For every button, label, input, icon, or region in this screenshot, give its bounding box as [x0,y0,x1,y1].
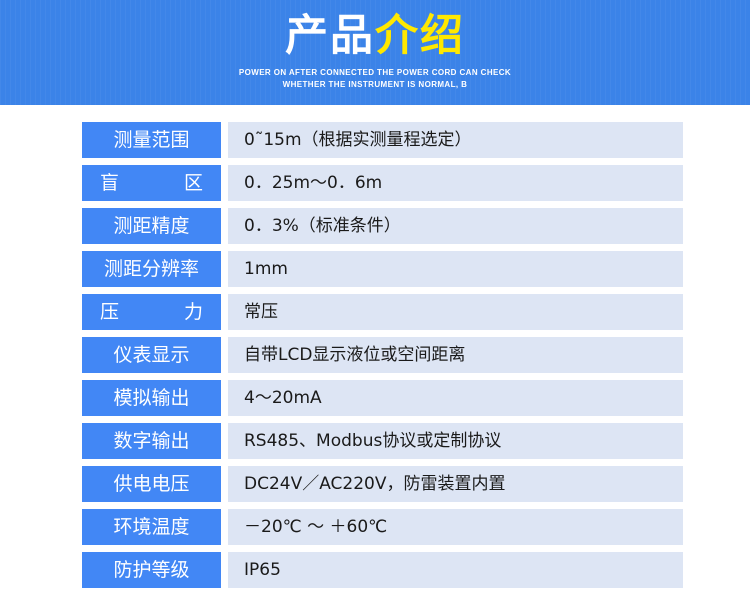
spec-value-cell: 1mm [228,251,683,287]
cell-divider [221,165,228,201]
cell-divider [221,337,228,373]
spec-label-cell: 压力 [82,294,221,330]
page-subtitle: POWER ON AFTER CONNECTED THE POWER CORD … [0,61,750,91]
spec-value-cell: 0．3%（标准条件） [228,208,683,244]
spec-value-cell: 4～20mA [228,380,683,416]
spec-label-cell: 模拟输出 [82,380,221,416]
page-title-part-2: 介绍 [375,11,465,61]
table-row: 压力常压 [0,294,750,330]
spec-label-cell: 仪表显示 [82,337,221,373]
cell-divider [221,552,228,588]
spec-value-cell: 0˜15m（根据实测量程选定） [228,122,683,158]
cell-divider [221,251,228,287]
spec-value-cell: DC24V／AC220V，防雷装置内置 [228,466,683,502]
table-row: 测量范围0˜15m（根据实测量程选定） [0,122,750,158]
spec-value-cell: IP65 [228,552,683,588]
table-row: 数字输出RS485、Modbus协议或定制协议 [0,423,750,459]
page-subtitle-line-1: POWER ON AFTER CONNECTED THE POWER CORD … [0,67,750,79]
cell-divider [221,208,228,244]
spec-value-cell: RS485、Modbus协议或定制协议 [228,423,683,459]
spec-value-cell: 自带LCD显示液位或空间距离 [228,337,683,373]
spec-label-cell: 盲区 [82,165,221,201]
spec-value-cell: 0．25m～0．6m [228,165,683,201]
table-row: 盲区0．25m～0．6m [0,165,750,201]
banner-content: 产品介绍 POWER ON AFTER CONNECTED THE POWER … [0,0,750,91]
table-row: 防护等级IP65 [0,552,750,588]
table-row: 模拟输出4～20mA [0,380,750,416]
table-row: 测距精度0．3%（标准条件） [0,208,750,244]
specification-table: 测量范围0˜15m（根据实测量程选定）盲区0．25m～0．6m测距精度0．3%（… [0,105,750,588]
cell-divider [221,294,228,330]
spec-label-cell: 测量范围 [82,122,221,158]
page-subtitle-line-2: WHETHER THE INSTRUMENT IS NORMAL, B [0,79,750,91]
spec-label-cell: 数字输出 [82,423,221,459]
cell-divider [221,423,228,459]
table-row: 测距分辨率1mm [0,251,750,287]
spec-label-cell: 测距精度 [82,208,221,244]
spec-value-cell: －20℃ ～ ＋60℃ [228,509,683,545]
spec-label-cell: 环境温度 [82,509,221,545]
spec-value-cell: 常压 [228,294,683,330]
page-title-part-1: 产品 [285,11,375,61]
cell-divider [221,509,228,545]
table-row: 环境温度－20℃ ～ ＋60℃ [0,509,750,545]
spec-label-cell: 供电电压 [82,466,221,502]
cell-divider [221,122,228,158]
table-row: 仪表显示自带LCD显示液位或空间距离 [0,337,750,373]
spec-label-cell: 测距分辨率 [82,251,221,287]
table-row: 供电电压DC24V／AC220V，防雷装置内置 [0,466,750,502]
page-header-banner: 产品介绍 POWER ON AFTER CONNECTED THE POWER … [0,0,750,105]
page-title: 产品介绍 [0,0,750,61]
spec-label-cell: 防护等级 [82,552,221,588]
cell-divider [221,380,228,416]
cell-divider [221,466,228,502]
